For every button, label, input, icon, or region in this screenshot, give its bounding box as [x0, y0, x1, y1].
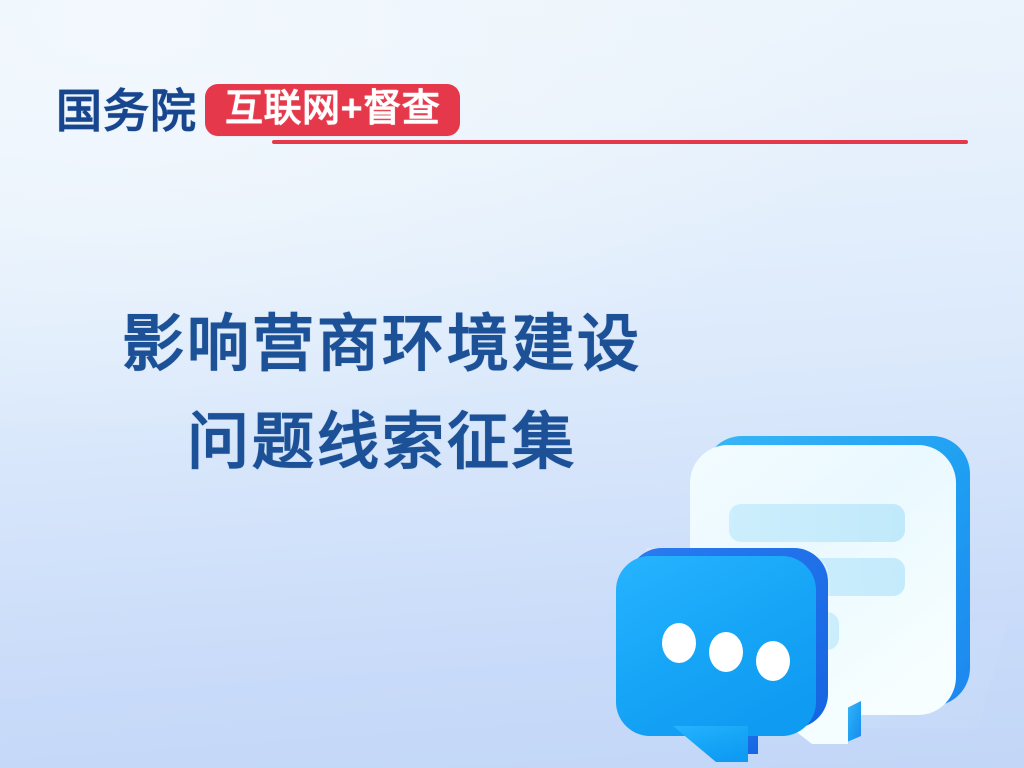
- typing-dot-2: [709, 632, 743, 672]
- front-bubble-tail: [673, 726, 748, 762]
- brand-badge-label: 互联网+督查: [225, 88, 440, 130]
- page-title: 影响营商环境建设 问题线索征集: [92, 296, 672, 492]
- brand-badge: 互联网+督查: [205, 84, 460, 136]
- brand-name: 国务院: [56, 88, 197, 136]
- page-title-line-1: 影响营商环境建设: [92, 296, 672, 394]
- header-divider-rule: [272, 140, 968, 144]
- chat-bubbles-illustration: [616, 390, 1016, 768]
- page-title-line-2: 问题线索征集: [92, 394, 672, 492]
- chat-bubbles-svg: [616, 390, 1016, 768]
- back-bubble-tail-outline: [847, 701, 861, 742]
- header: 国务院 互联网+督查: [56, 74, 968, 146]
- typing-dot-1: [662, 623, 696, 663]
- back-bubble-bar-1: [729, 504, 905, 542]
- poster-canvas: 国务院 互联网+督查 影响营商环境建设 问题线索征集: [0, 0, 1024, 768]
- typing-dot-3: [756, 641, 790, 681]
- brand-row: 国务院 互联网+督查: [56, 74, 968, 136]
